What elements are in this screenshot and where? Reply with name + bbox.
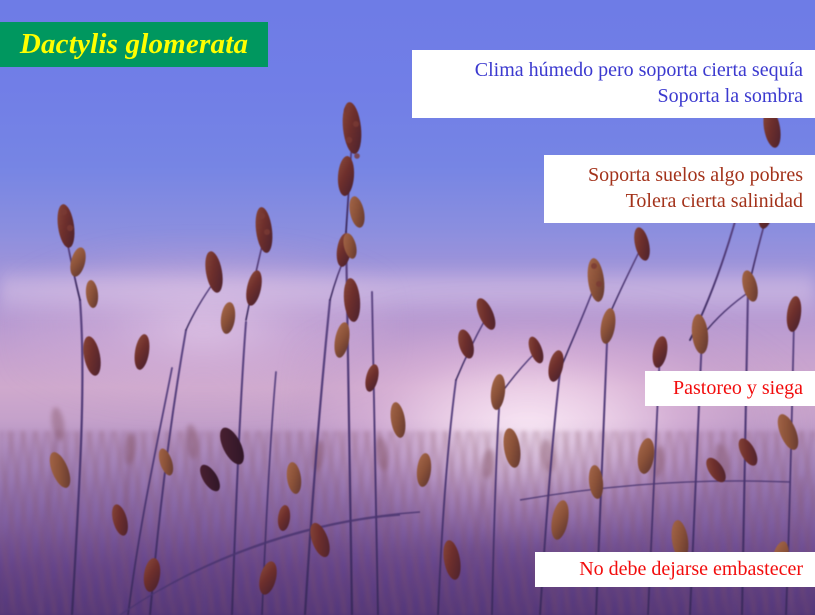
callout-coarse: No debe dejarse embastecer [535,552,815,587]
callout-soil: Soporta suelos algo pobres Tolera cierta… [544,155,815,223]
callout-soil-line-1: Soporta suelos algo pobres [554,162,803,188]
callout-climate: Clima húmedo pero soporta cierta sequía … [412,50,815,118]
callout-soil-line-2: Tolera cierta salinidad [554,188,803,214]
callout-climate-line-1: Clima húmedo pero soporta cierta sequía [422,57,803,83]
callout-grazing: Pastoreo y siega [645,371,815,406]
callout-coarse-line-1: No debe dejarse embastecer [545,557,803,581]
callout-climate-line-2: Soporta la sombra [422,83,803,109]
page-title: Dactylis glomerata [20,30,248,59]
species-title-banner: Dactylis glomerata [0,22,268,67]
callout-grazing-line-1: Pastoreo y siega [655,376,803,400]
slide-canvas: Dactylis glomerata Clima húmedo pero sop… [0,0,815,615]
